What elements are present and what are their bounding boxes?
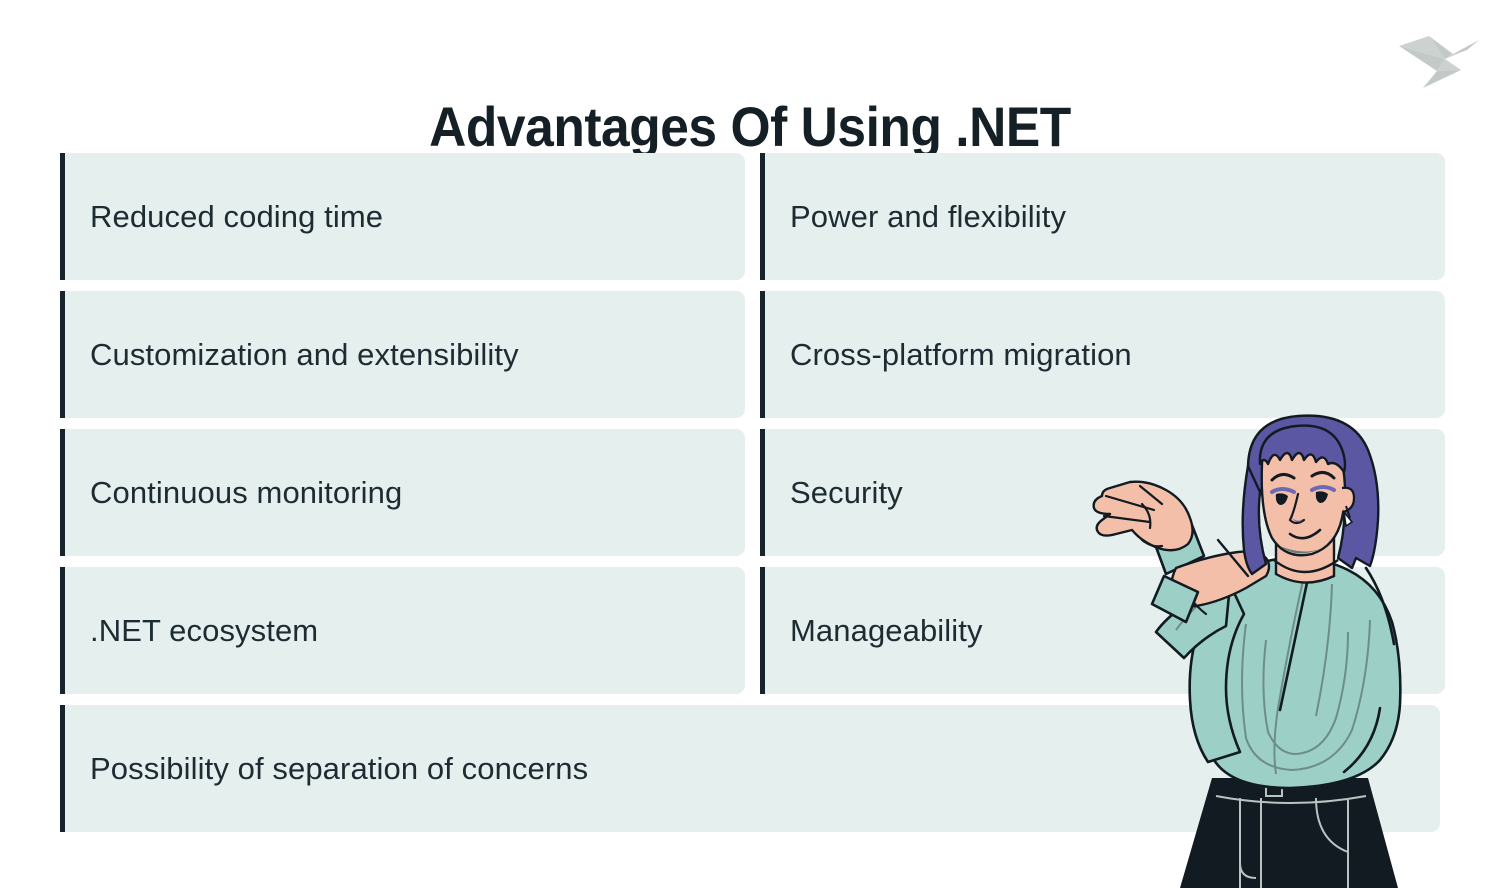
advantage-label: Manageability: [790, 612, 983, 650]
advantage-label: Security: [790, 474, 903, 512]
advantage-row: .NET ecosystem Manageability: [60, 567, 1440, 694]
advantage-label: Reduced coding time: [90, 198, 383, 236]
advantage-row: Possibility of separation of concerns: [60, 705, 1440, 832]
advantage-row: Continuous monitoring Security: [60, 429, 1440, 556]
advantage-label: Cross-platform migration: [790, 336, 1132, 374]
advantage-card[interactable]: .NET ecosystem: [60, 567, 745, 694]
advantage-card[interactable]: Continuous monitoring: [60, 429, 745, 556]
advantage-label: Power and flexibility: [790, 198, 1066, 236]
advantage-card[interactable]: Power and flexibility: [760, 153, 1445, 280]
advantage-card[interactable]: Manageability: [760, 567, 1445, 694]
advantage-card[interactable]: Reduced coding time: [60, 153, 745, 280]
origami-bird-icon: [1393, 18, 1485, 92]
advantage-row: Reduced coding time Power and flexibilit…: [60, 153, 1440, 280]
page-title: Advantages Of Using .NET: [60, 91, 1440, 163]
advantage-label: Continuous monitoring: [90, 474, 402, 512]
advantage-row: Customization and extensibility Cross-pl…: [60, 291, 1440, 418]
advantage-card[interactable]: Cross-platform migration: [760, 291, 1445, 418]
advantages-list: Reduced coding time Power and flexibilit…: [60, 153, 1440, 843]
advantage-label: Possibility of separation of concerns: [90, 750, 588, 788]
advantage-card[interactable]: Customization and extensibility: [60, 291, 745, 418]
infographic-page: Advantages Of Using .NET Reduced coding …: [0, 0, 1500, 888]
advantage-label: Customization and extensibility: [90, 336, 519, 374]
advantage-label: .NET ecosystem: [90, 612, 318, 650]
advantage-card[interactable]: Security: [760, 429, 1445, 556]
advantage-card[interactable]: Possibility of separation of concerns: [60, 705, 1440, 832]
